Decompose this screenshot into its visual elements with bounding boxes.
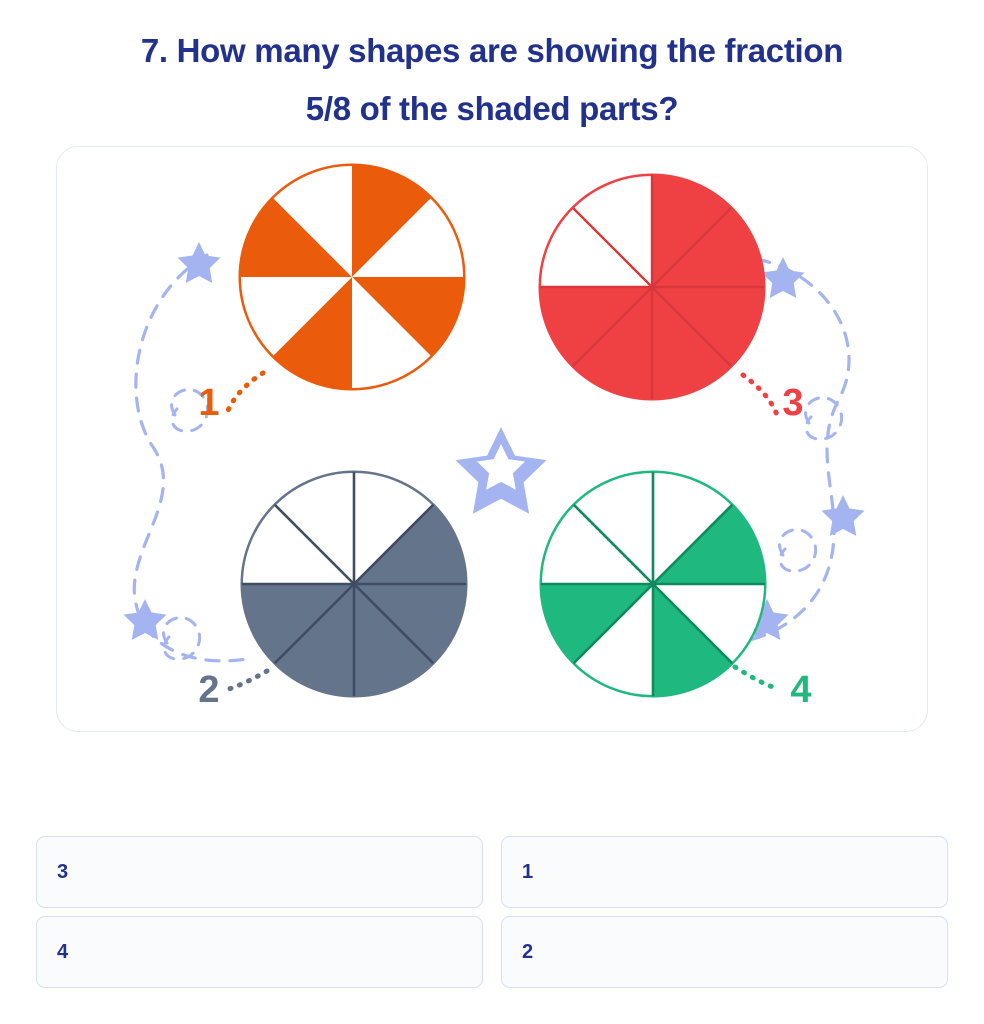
answer-option-label: 1 — [522, 861, 533, 884]
question-line-1: 7. How many shapes are showing the fract… — [40, 22, 944, 80]
answer-option-label: 4 — [57, 941, 68, 964]
decorative-star — [178, 242, 221, 283]
connector-2 — [229, 671, 267, 689]
fraction-shape-1 — [241, 166, 463, 388]
answer-option-4[interactable]: 2 — [501, 916, 948, 988]
center-hollow-star — [456, 427, 547, 514]
decoration-left — [134, 255, 247, 661]
fraction-shape-3 — [541, 176, 763, 398]
fraction-shape-4 — [542, 473, 764, 695]
answer-option-1[interactable]: 3 — [36, 836, 483, 908]
decorative-star — [123, 599, 166, 640]
quiz-page: 7. How many shapes are showing the fract… — [0, 0, 984, 1024]
connector-4 — [735, 667, 779, 689]
answer-option-label: 3 — [57, 861, 68, 884]
decoration-right-loop-lower — [780, 530, 816, 572]
fraction-shape-2 — [243, 473, 465, 695]
fraction-shapes-illustration: 1 — [57, 147, 928, 732]
answer-option-3[interactable]: 4 — [36, 916, 483, 988]
shape-label-2: 2 — [198, 669, 219, 711]
shape-label-4: 4 — [790, 669, 811, 711]
decoration-right-loop-upper — [806, 398, 842, 440]
shape-label-1: 1 — [198, 382, 219, 424]
question-line-2: 5/8 of the shaded parts? — [40, 80, 944, 138]
page-title: 7. How many shapes are showing the fract… — [40, 22, 944, 138]
decorative-star — [822, 495, 865, 536]
shape-label-3: 3 — [782, 382, 803, 424]
connector-1 — [227, 373, 263, 413]
decoration-left-loop-lower — [164, 618, 200, 660]
answer-option-label: 2 — [522, 941, 533, 964]
connector-3 — [743, 375, 777, 415]
figure-card: 1 — [56, 146, 928, 732]
answer-option-2[interactable]: 1 — [501, 836, 948, 908]
answer-options-list: 3 1 4 2 — [36, 836, 948, 988]
